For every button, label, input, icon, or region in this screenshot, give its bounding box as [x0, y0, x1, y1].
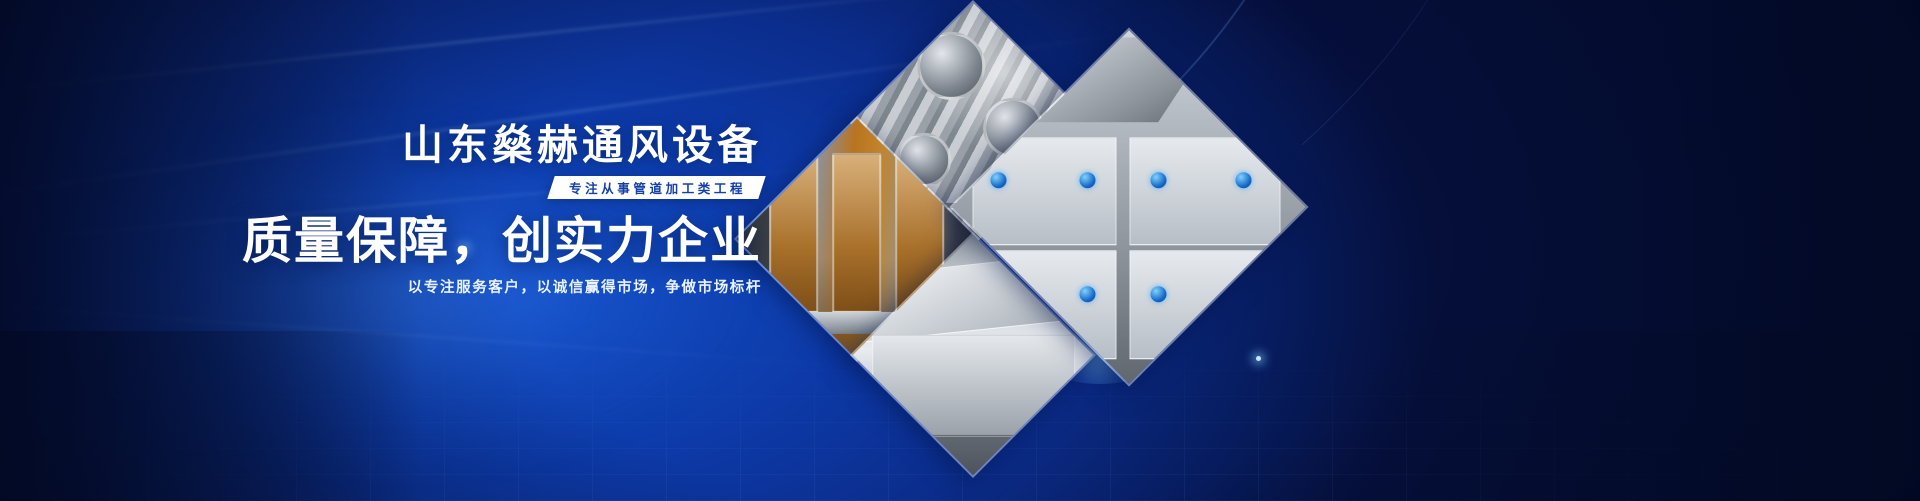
hero-banner: 山东燊赫通风设备 专注从事管道加工类工程 质量保障，创实力企业 以专注服务客户，…: [0, 0, 1920, 501]
ahu-latch-knob: [1079, 285, 1095, 301]
company-title: 山东燊赫通风设备: [0, 125, 762, 166]
cabinet-panel: [832, 153, 881, 313]
tagline-text: 专注从事管道加工类工程: [569, 178, 746, 197]
ahu-latch-knob: [991, 172, 1007, 188]
particle-dot: [1256, 356, 1261, 361]
right-shade: [1300, 0, 1920, 501]
ahu-access-panel: [1129, 136, 1280, 245]
ahu-latch-knob: [1236, 285, 1252, 301]
ahu-latch-knob: [1150, 172, 1166, 188]
headline: 质量保障，创实力企业: [0, 210, 762, 273]
banner-copy: 山东燊赫通风设备 专注从事管道加工类工程 质量保障，创实力企业 以专注服务客户，…: [0, 0, 820, 501]
ahu-latch-knob: [1236, 172, 1252, 188]
photo-collage: [806, 58, 1236, 378]
tagline-wrapper: 专注从事管道加工类工程: [0, 176, 762, 199]
tagline-bar: 专注从事管道加工类工程: [547, 176, 766, 199]
subtitle: 以专注服务客户，以诚信赢得市场，争做市场标杆: [0, 276, 762, 297]
ahu-cap: [1205, 51, 1285, 103]
duct-ring: [918, 32, 986, 100]
ahu-latch-knob: [1150, 285, 1166, 301]
ahu-latch-knob: [1079, 172, 1095, 188]
